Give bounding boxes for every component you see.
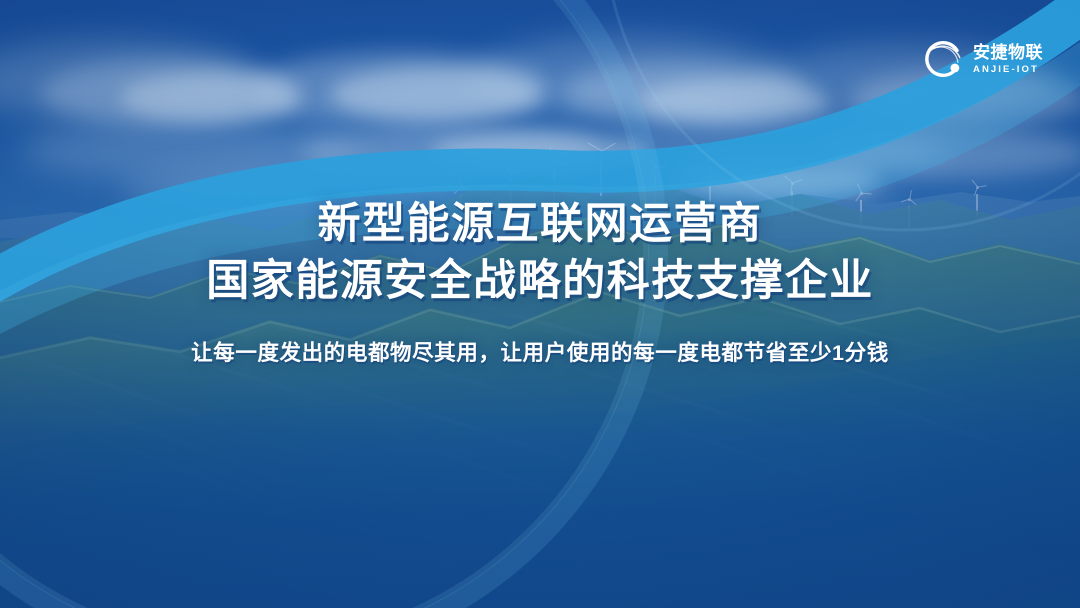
headline-block: 新型能源互联网运营商 国家能源安全战略的科技支撑企业 让每一度发出的电都物尽其用…	[0, 196, 1080, 367]
brand-logo[interactable]: 安捷物联 ANJIE-IOT	[920, 36, 1043, 82]
headline-line-2: 国家能源安全战略的科技支撑企业	[0, 253, 1080, 310]
logo-text-block: 安捷物联 ANJIE-IOT	[973, 44, 1043, 75]
logo-company-name-cn: 安捷物联	[973, 44, 1043, 61]
logo-company-name-en: ANJIE-IOT	[973, 65, 1043, 75]
anjie-ring-icon	[920, 36, 966, 82]
headline-line-1: 新型能源互联网运营商	[0, 196, 1080, 253]
promo-banner: 安捷物联 ANJIE-IOT 新型能源互联网运营商 国家能源安全战略的科技支撑企…	[0, 0, 1080, 608]
subheadline: 让每一度发出的电都物尽其用，让用户使用的每一度电都节省至少1分钱	[0, 336, 1080, 367]
